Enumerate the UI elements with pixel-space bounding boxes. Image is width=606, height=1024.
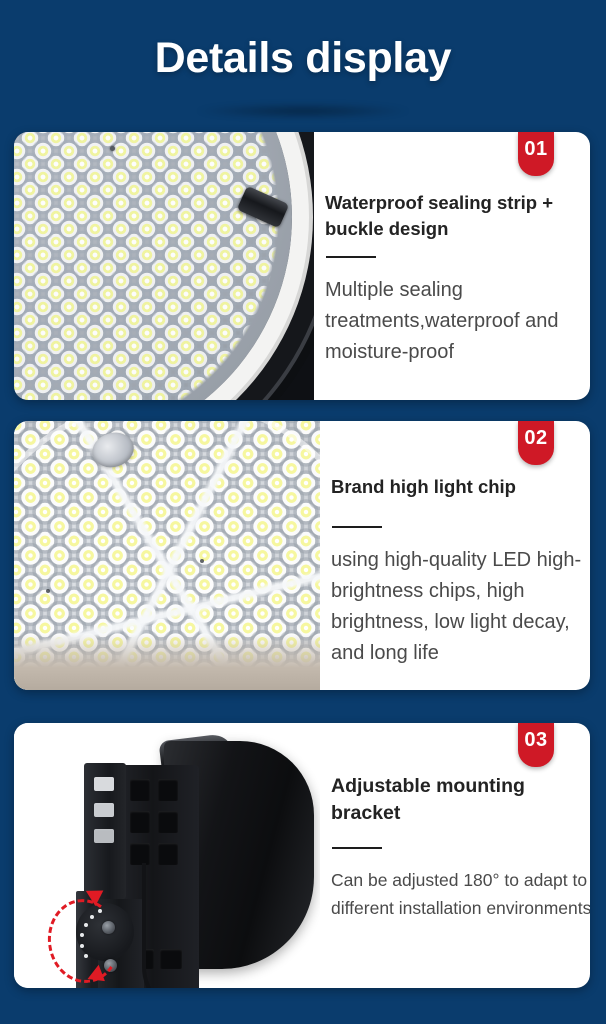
bracket-notch (94, 829, 114, 843)
feature-card-1: Waterproof sealing strip + buckle design… (14, 132, 590, 400)
heading-divider (332, 526, 382, 528)
led-chip-closeup-photo (14, 421, 320, 690)
feature-card-3: Adjustable mounting bracket Can be adjus… (14, 723, 590, 988)
feature-image-3 (14, 723, 320, 988)
feature-heading: Waterproof sealing strip + buckle design (325, 190, 575, 242)
heading-divider (326, 256, 376, 258)
bracket-slot (158, 843, 178, 865)
feature-image-2 (14, 421, 320, 690)
feature-image-1 (14, 132, 314, 400)
feature-text-2: Brand high light chip using high-quality… (320, 421, 590, 690)
bracket-slot (158, 779, 178, 801)
page-header: Details display (0, 0, 606, 132)
power-cable (142, 863, 208, 988)
feature-text-1: Waterproof sealing strip + buckle design… (314, 132, 590, 400)
feature-heading: Brand high light chip (331, 474, 581, 500)
feature-description: Can be adjusted 180° to adapt to differe… (331, 866, 590, 922)
feature-number-badge: 01 (518, 132, 554, 176)
led-high-bay-photo (14, 132, 314, 400)
heading-divider (332, 847, 382, 849)
feature-number-badge: 02 (518, 421, 554, 465)
title-shadow (153, 100, 453, 122)
feature-heading: Adjustable mounting bracket (331, 773, 571, 827)
feature-number-badge: 03 (518, 723, 554, 767)
bracket-notch (94, 803, 114, 817)
feature-card-2: Brand high light chip using high-quality… (14, 421, 590, 690)
feature-text-3: Adjustable mounting bracket Can be adjus… (320, 723, 590, 988)
bracket-slot (130, 843, 150, 865)
feature-description: using high-quality LED high-brightness c… (331, 545, 590, 669)
feature-description: Multiple sealing treatments,waterproof a… (325, 275, 587, 368)
bracket-slot (158, 811, 178, 833)
mounting-bracket-photo (14, 723, 320, 988)
screw-dot (110, 146, 115, 151)
background-floor (14, 634, 320, 690)
page-background: Details display Waterproof sealing strip… (0, 0, 606, 1024)
page-title: Details display (0, 32, 606, 84)
bracket-slot (130, 779, 150, 801)
bracket-notch (94, 777, 114, 791)
bracket-slot (130, 811, 150, 833)
led-lens-grid (14, 132, 292, 400)
